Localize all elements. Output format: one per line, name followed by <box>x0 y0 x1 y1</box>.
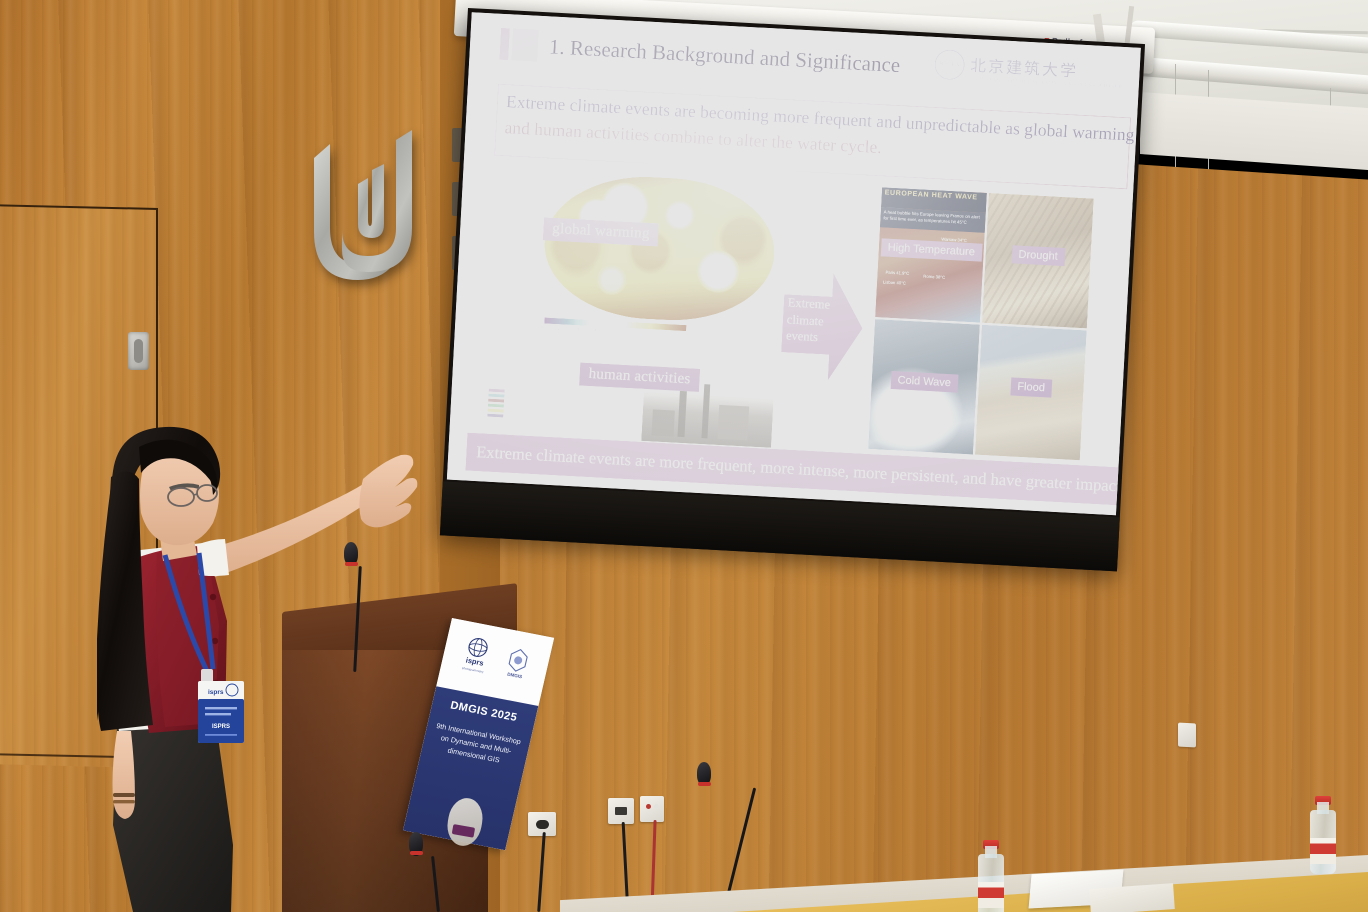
extreme-climate-events-arrow: Extreme climate events <box>780 270 866 384</box>
photo-label: Cold Wave <box>890 371 958 393</box>
photo-label: Flood <box>1010 377 1052 397</box>
photo-label: High Temperature <box>880 238 982 261</box>
university-name-block: 北京建筑大学 BEIJING UNIVERSITY OF CIVIL ENGIN… <box>969 51 1126 88</box>
rca-jack-red <box>646 804 651 809</box>
svg-text:isprs: isprs <box>208 689 224 696</box>
projection-screen: 1. Research Background and Significance … <box>440 8 1145 571</box>
global-warming-map-figure <box>541 172 778 326</box>
photo-flood: Flood <box>975 325 1087 460</box>
heat-city-label: Paris 41.9°C <box>885 270 909 276</box>
presenter: isprs ISPRS <box>95 425 425 912</box>
rca-jack-white <box>654 804 659 809</box>
arrow-label: Extreme climate events <box>786 294 837 346</box>
wall-outlet[interactable] <box>608 798 634 824</box>
smokestack <box>701 384 710 438</box>
photo-drought: Drought <box>982 193 1094 328</box>
slide-title: 1. Research Background and Significance <box>548 34 900 78</box>
university-u-emblem-icon <box>306 100 432 290</box>
outlet-socket <box>536 820 549 829</box>
slide-title-row: 1. Research Background and Significance <box>499 28 901 81</box>
smokestack <box>677 391 686 437</box>
heat-wave-subtext: A heat bubble hits Europe leaving France… <box>880 207 986 233</box>
university-seal-icon: BUCEA <box>933 49 965 81</box>
paper-document[interactable] <box>1089 883 1175 912</box>
global-temperature-map <box>541 172 778 326</box>
water-bottle[interactable] <box>1308 796 1338 874</box>
photo-high-temperature: EUROPEAN HEAT WAVE A heat bubble hits Eu… <box>875 187 987 322</box>
extreme-events-photo-grid: EUROPEAN HEAT WAVE A heat bubble hits Eu… <box>868 187 1094 460</box>
svg-text:DMGIS: DMGIS <box>507 672 523 680</box>
isprs-logo-icon: isprs photogrammetry <box>457 633 495 678</box>
heat-city-label: Rome 38°C <box>923 274 945 280</box>
bottle-label <box>1310 838 1336 864</box>
presentation-slide: 1. Research Background and Significance … <box>447 12 1141 515</box>
bottle-label <box>978 882 1004 908</box>
heat-city-label: Lisbon 40°C <box>883 279 906 285</box>
floor-microphone-ring <box>698 782 711 786</box>
dmgis-logo-icon: DMGIS <box>501 644 534 682</box>
photo-label: Drought <box>1011 245 1065 266</box>
map-legend <box>487 389 505 420</box>
projection-surface: 1. Research Background and Significance … <box>447 12 1141 515</box>
industrial-building <box>652 409 675 436</box>
presentation-room-scene: Redleaf 1. Research Background and Signi… <box>0 0 1368 912</box>
outlet-socket <box>615 807 627 815</box>
svg-text:isprs: isprs <box>465 656 485 668</box>
slide-university-logo: BUCEA 北京建筑大学 BEIJING UNIVERSITY OF CIVIL… <box>933 49 1126 89</box>
water-bottle[interactable] <box>976 840 1006 912</box>
industrial-building <box>717 405 749 441</box>
title-decoration-icon <box>499 28 539 62</box>
photo-cold-wave: Cold Wave <box>868 319 980 454</box>
smoke-plume <box>718 355 770 388</box>
svg-text:ISPRS: ISPRS <box>212 724 230 730</box>
wall-switch-plate[interactable] <box>1178 722 1196 747</box>
slide-content-area: global warming -4 -3 -2 -1 0 1 2 3 4 <box>476 161 1129 463</box>
door-handle[interactable] <box>128 332 149 370</box>
wall-av-port[interactable] <box>640 796 664 822</box>
